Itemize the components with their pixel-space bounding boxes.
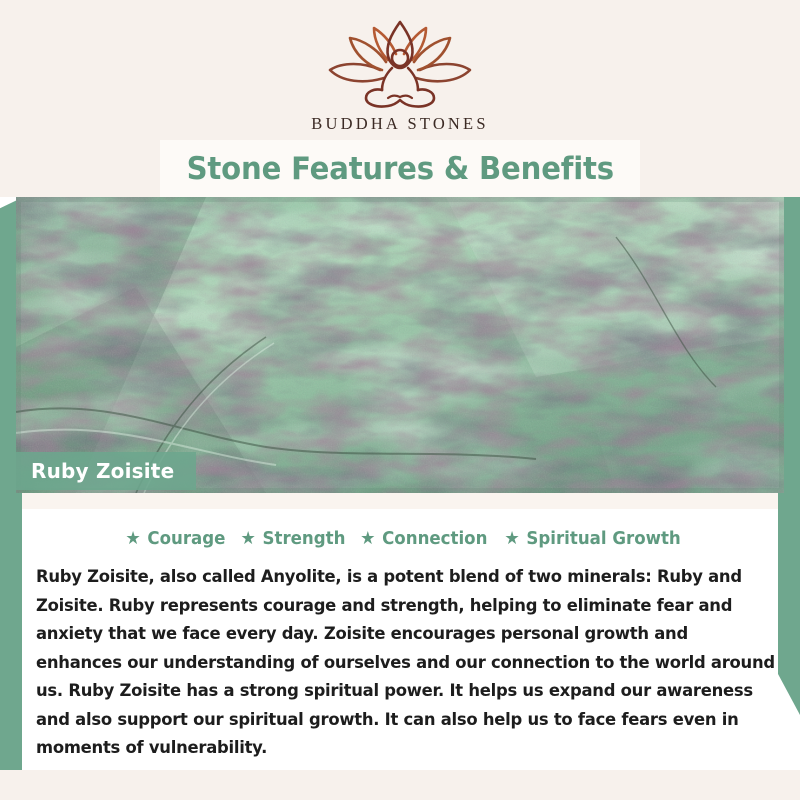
- card-top-tint: [22, 493, 778, 509]
- ruby-zoisite-stone-photo: [16, 197, 784, 493]
- benefits-row: ★ Courage ★ Strength ★ Connection ★ Spir…: [22, 529, 778, 549]
- content-card: ★ Courage ★ Strength ★ Connection ★ Spir…: [22, 493, 778, 771]
- benefit-label: Connection: [382, 529, 487, 549]
- star-icon: ★: [360, 530, 375, 548]
- benefit-label: Courage: [148, 529, 226, 549]
- page-root: BUDDHA STONES Stone Features & Benefits: [0, 0, 800, 800]
- benefit-label: Strength: [262, 529, 345, 549]
- benefit-label: Spiritual Growth: [526, 529, 680, 549]
- brand-name: BUDDHA STONES: [0, 114, 800, 134]
- title-plate: Stone Features & Benefits: [160, 140, 640, 197]
- stone-caption-bar: Ruby Zoisite: [16, 452, 196, 490]
- benefit-item-connection: ★ Connection: [352, 529, 488, 549]
- header-area: BUDDHA STONES Stone Features & Benefits: [0, 0, 800, 197]
- stone-name-label: Ruby Zoisite: [31, 459, 174, 483]
- star-icon: ★: [504, 530, 519, 548]
- stone-description: Ruby Zoisite, also called Anyolite, is a…: [36, 563, 776, 763]
- footer-strip: [0, 770, 800, 800]
- benefit-item-spiritual-growth: ★ Spiritual Growth: [496, 529, 681, 549]
- lotus-meditation-icon: [324, 18, 476, 110]
- page-title: Stone Features & Benefits: [186, 151, 613, 187]
- stone-texture: [16, 197, 784, 493]
- star-icon: ★: [126, 530, 141, 548]
- benefit-item-courage: ★ Courage: [117, 529, 226, 549]
- benefit-item-strength: ★ Strength: [232, 529, 345, 549]
- brand-logo: BUDDHA STONES: [0, 18, 800, 134]
- star-icon: ★: [240, 530, 255, 548]
